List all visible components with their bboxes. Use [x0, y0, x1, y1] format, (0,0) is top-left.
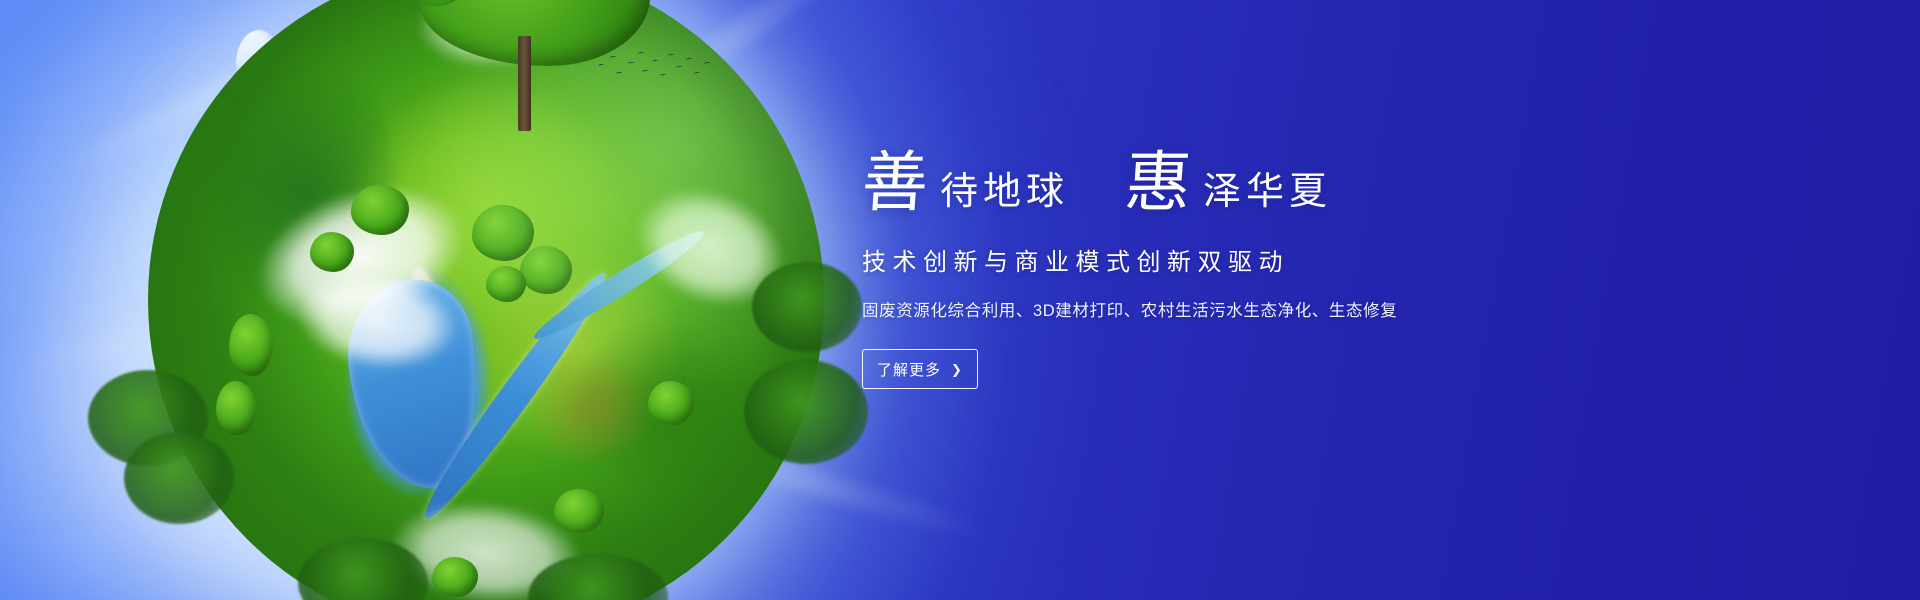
description: 固废资源化综合利用、3D建材打印、农村生活污水生态净化、生态修复	[862, 297, 1562, 321]
headline: 善 待地球 惠 泽华夏	[862, 128, 1562, 216]
hero-content: 善 待地球 惠 泽华夏 技术创新与商业模式创新双驱动 固废资源化综合利用、3D建…	[862, 128, 1562, 389]
learn-more-label: 了解更多	[877, 359, 941, 380]
headline-rest-chars: 待地球	[928, 172, 1069, 216]
green-planet	[148, 0, 824, 600]
birds-flock-icon	[594, 50, 714, 90]
chevron-right-icon: ❯	[951, 363, 963, 376]
headline-phrase-two: 惠 泽华夏	[1125, 150, 1332, 216]
hero-banner: 善 待地球 惠 泽华夏 技术创新与商业模式创新双驱动 固废资源化综合利用、3D建…	[0, 0, 1920, 600]
subtitle: 技术创新与商业模式创新双驱动	[862, 242, 1562, 277]
headline-lead-char: 惠	[1123, 150, 1194, 216]
learn-more-button[interactable]: 了解更多 ❯	[862, 349, 978, 389]
tree-silhouette	[744, 360, 868, 464]
headline-lead-char: 善	[860, 150, 931, 216]
tree-silhouette	[124, 432, 234, 524]
tree-trunk	[518, 36, 531, 131]
headline-rest-chars: 泽华夏	[1191, 172, 1332, 216]
tree-silhouette	[752, 262, 862, 352]
headline-phrase-one: 善 待地球	[862, 150, 1069, 216]
